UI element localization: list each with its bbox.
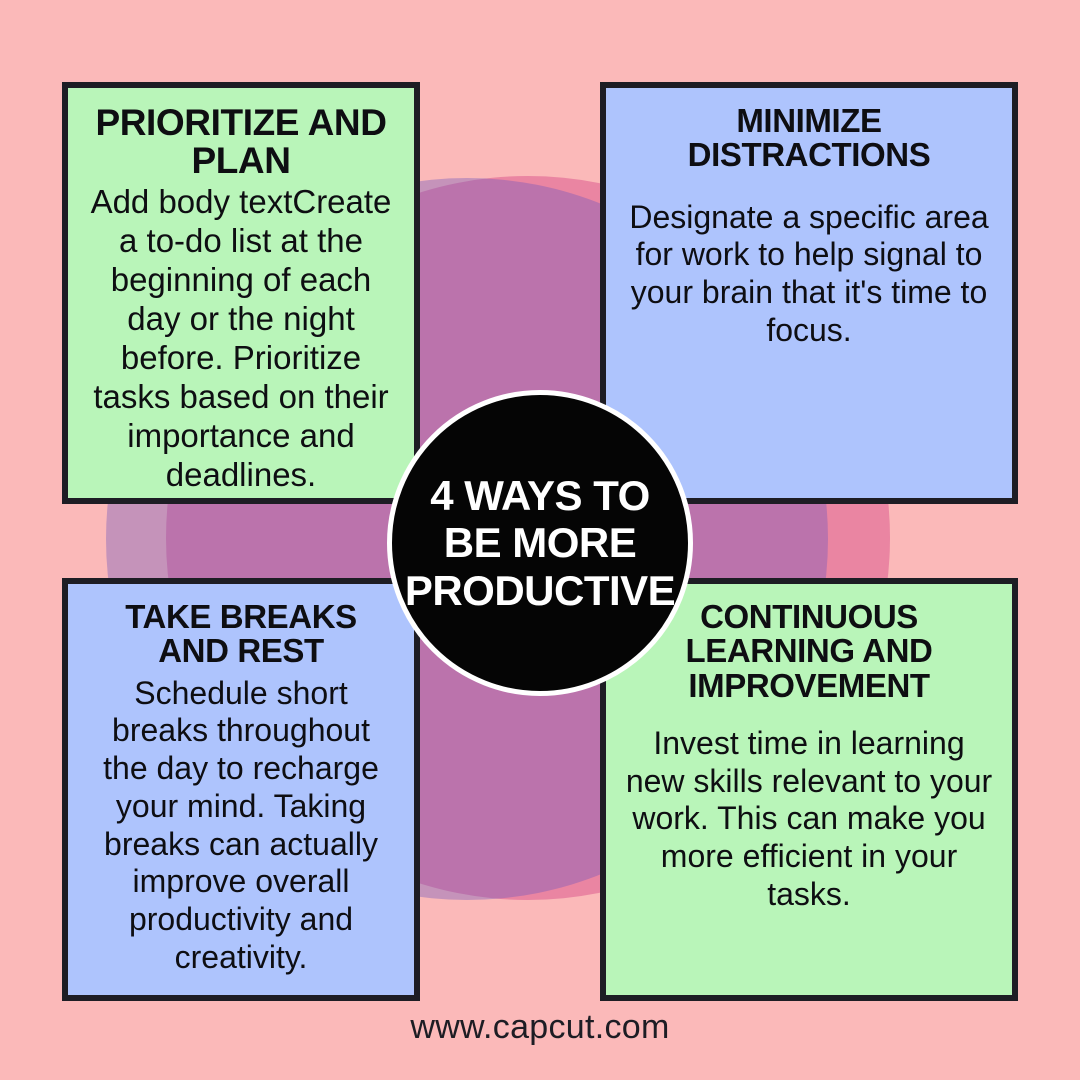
card-body: Designate a specific area for work to he… <box>624 199 994 350</box>
card-continuous-learning-and-improvement[interactable]: CONTINUOUS LEARNING AND IMPROVEMENT Inve… <box>600 578 1018 1001</box>
card-prioritize-and-plan[interactable]: PRIORITIZE AND PLAN Add body textCreate … <box>62 82 420 504</box>
card-minimize-distractions[interactable]: MINIMIZE DISTRACTIONS Designate a specif… <box>600 82 1018 504</box>
card-title: CONTINUOUS LEARNING AND IMPROVEMENT <box>624 600 994 703</box>
footer-url[interactable]: www.capcut.com <box>0 1008 1080 1047</box>
infographic-poster: PRIORITIZE AND PLAN Add body textCreate … <box>0 0 1080 1080</box>
card-body: Add body textCreate a to-do list at the … <box>86 183 396 495</box>
card-title: PRIORITIZE AND PLAN <box>86 104 396 181</box>
center-badge: 4 WAYS TO BE MORE PRODUCTIVE <box>387 390 693 696</box>
card-take-breaks-and-rest[interactable]: TAKE BREAKS AND REST Schedule short brea… <box>62 578 420 1001</box>
center-badge-title: 4 WAYS TO BE MORE PRODUCTIVE <box>392 472 688 613</box>
card-body: Invest time in learning new skills relev… <box>624 725 994 914</box>
card-body: Schedule short breaks throughout the day… <box>86 675 396 977</box>
card-title: MINIMIZE DISTRACTIONS <box>624 104 994 173</box>
card-title: TAKE BREAKS AND REST <box>86 600 396 669</box>
